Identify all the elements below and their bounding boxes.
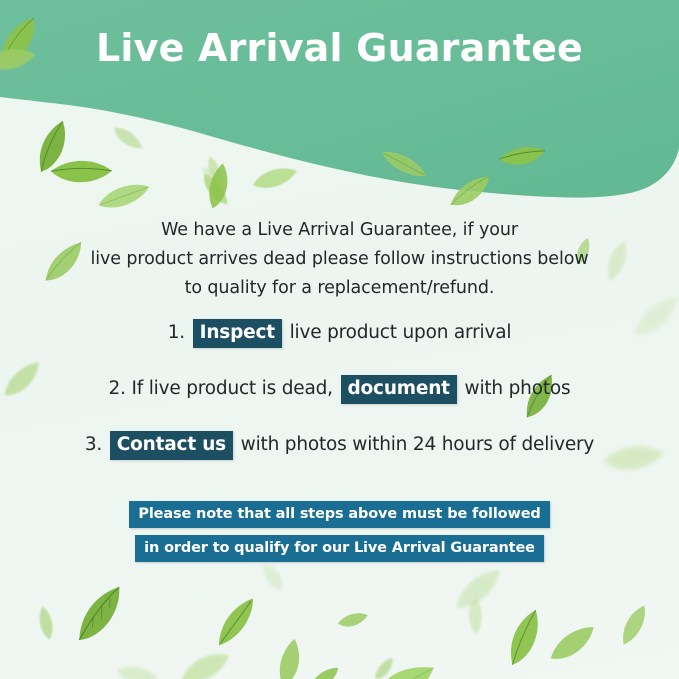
note-banner: Please note that all steps above must be… <box>0 501 679 562</box>
leaf-icon <box>112 652 161 679</box>
step-3-highlight-contact-us[interactable]: Contact us <box>110 431 233 460</box>
step-2-number: 2. <box>109 378 126 399</box>
leaf-icon <box>496 136 547 178</box>
step-item-1: 1. Inspect live product upon arrival <box>0 318 679 348</box>
leaf-icon <box>172 640 237 679</box>
intro-line-1: We have a Live Arrival Guarantee, if you… <box>0 216 679 245</box>
leaf-icon <box>370 657 437 679</box>
step-3-after: with photos within 24 hours of delivery <box>235 434 594 455</box>
leaf-icon <box>613 599 656 651</box>
leaf-icon <box>375 141 432 187</box>
leaf-icon <box>446 174 497 212</box>
leaf-icon <box>23 117 86 178</box>
intro-line-3: to quality for a replacement/refund. <box>0 274 679 303</box>
step-item-2: 2. If live product is dead, document wit… <box>0 374 679 404</box>
leaf-icon <box>47 144 116 203</box>
leaf-icon <box>546 625 600 666</box>
leaf-icon <box>306 666 343 679</box>
leaf-icon <box>64 584 138 649</box>
live-arrival-guarantee-poster: Live Arrival Guarantee <box>0 0 679 679</box>
leaf-icon <box>254 557 292 597</box>
step-1-highlight-inspect[interactable]: Inspect <box>193 319 282 348</box>
leaf-icon <box>109 119 144 159</box>
leaf-icon <box>32 603 59 642</box>
leaf-icon <box>194 161 245 214</box>
leaf-icon <box>207 590 265 655</box>
leaf-icon <box>198 169 229 211</box>
steps-list: 1. Inspect live product upon arrival 2. … <box>0 318 679 460</box>
leaf-icon <box>455 595 492 638</box>
leaf-icon <box>248 158 302 198</box>
step-3-number: 3. <box>85 434 102 455</box>
intro-paragraph: We have a Live Arrival Guarantee, if you… <box>0 216 679 303</box>
leaf-icon <box>370 656 401 679</box>
leaf-icon <box>202 155 224 184</box>
note-line-1: Please note that all steps above must be… <box>129 501 549 528</box>
step-item-3: 3. Contact us with photos within 24 hour… <box>0 430 679 460</box>
intro-line-2: live product arrives dead please follow … <box>0 245 679 274</box>
leaf-icon <box>93 173 155 218</box>
step-2-after: with photos <box>459 378 571 399</box>
note-line-2: in order to qualify for our Live Arrival… <box>135 535 544 562</box>
leaf-icon <box>197 160 228 196</box>
step-2-highlight-document[interactable]: document <box>341 375 457 404</box>
step-2-before: If live product is dead, <box>126 378 339 399</box>
step-1-after: live product upon arrival <box>284 322 511 343</box>
page-title: Live Arrival Guarantee <box>0 26 679 70</box>
leaf-icon <box>492 606 559 671</box>
leaf-icon <box>336 607 370 636</box>
leaf-icon <box>449 567 510 615</box>
step-1-number: 1. <box>168 322 185 343</box>
leaf-icon <box>264 636 319 679</box>
